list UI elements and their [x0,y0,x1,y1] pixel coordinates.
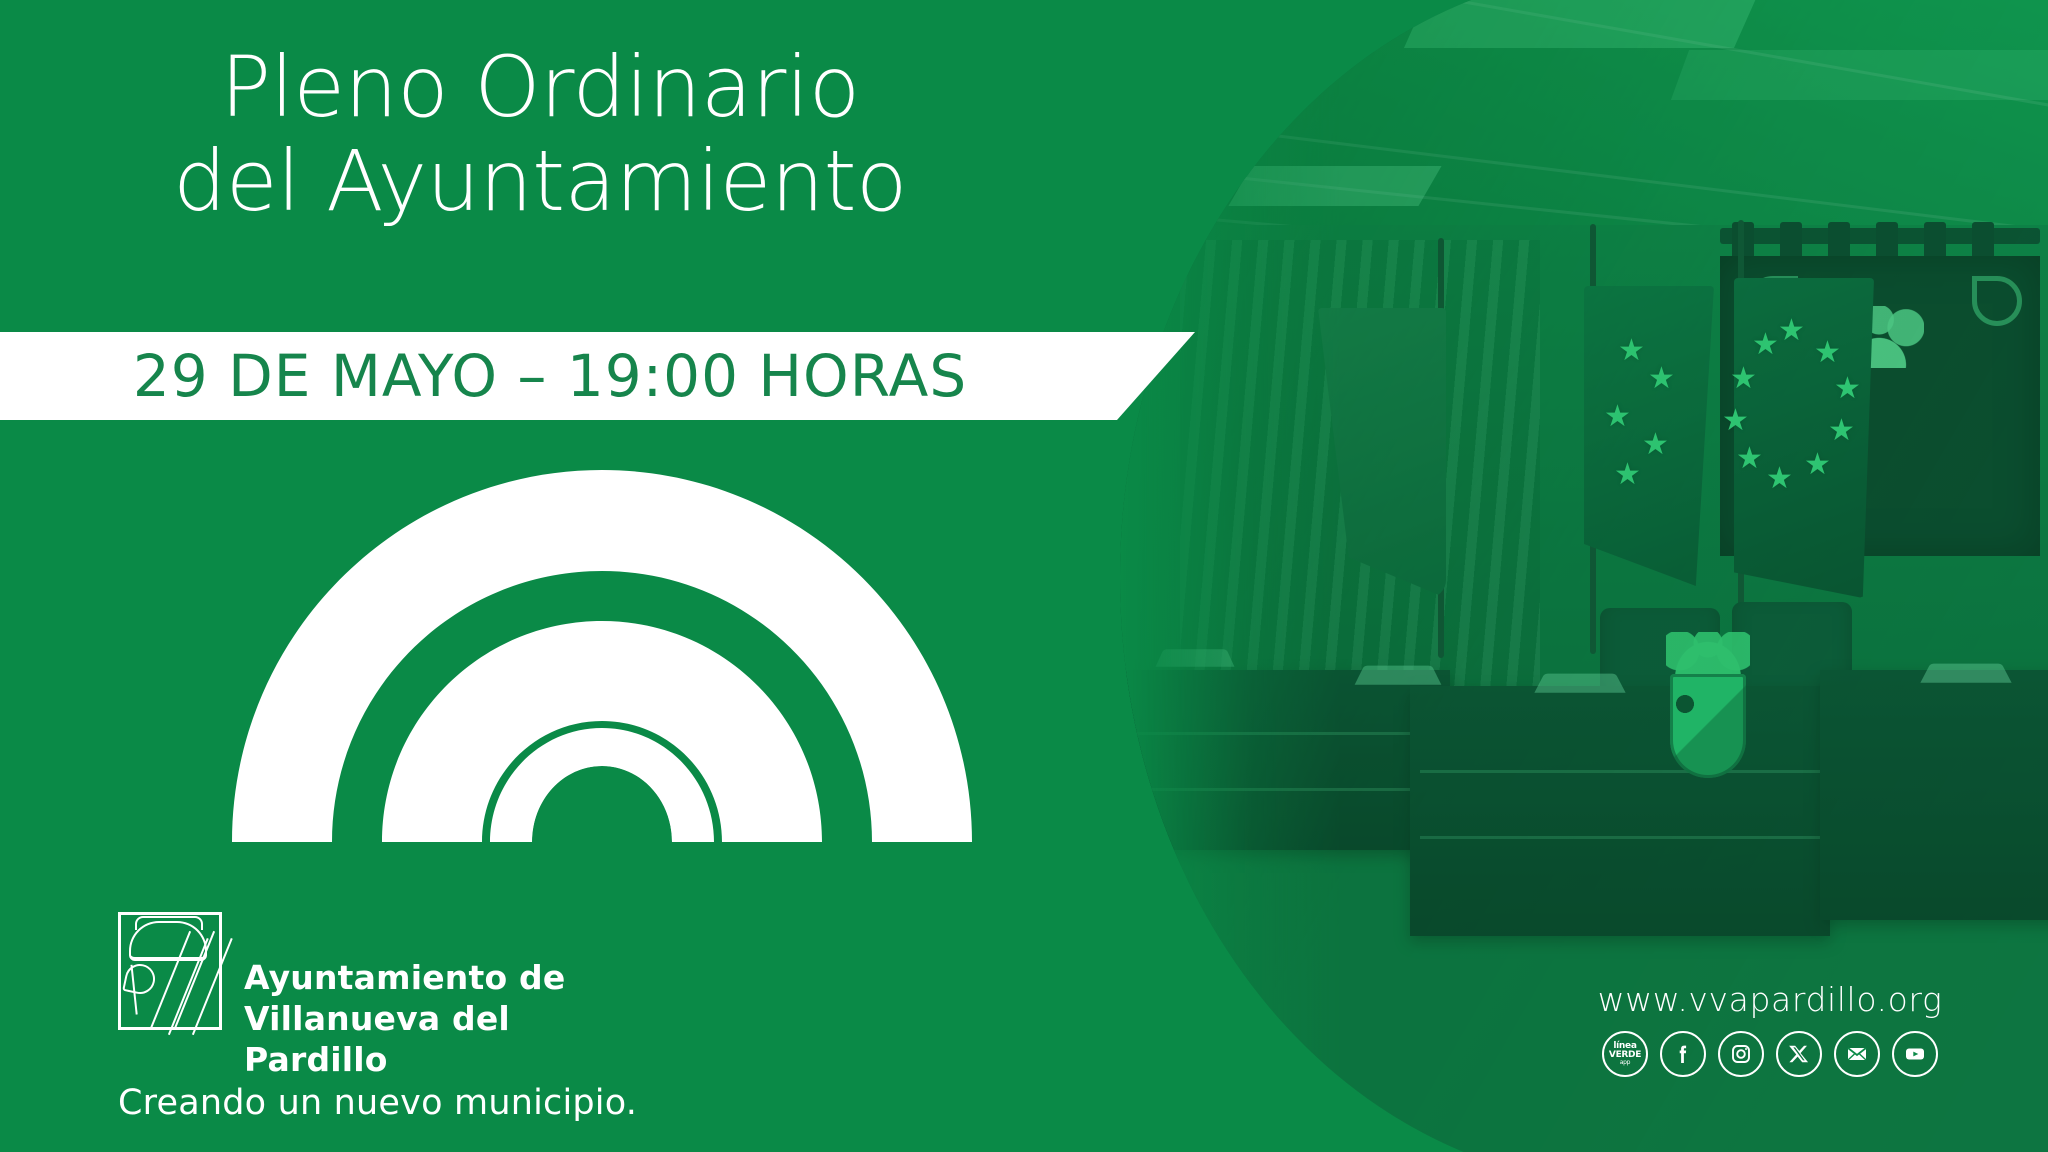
municipality-logo: Ayuntamiento de Villanueva del Pardillo … [118,912,638,1123]
municipality-name-line1: Ayuntamiento de [244,912,638,999]
facebook-icon[interactable] [1660,1031,1706,1077]
date-banner-text: 29 DE MAYO – 19:00 HORAS [0,332,1100,420]
municipality-tagline: Creando un nuevo municipio. [118,1083,638,1123]
photo-left-fade [1120,0,1340,1152]
municipal-shield-icon [118,912,222,1030]
page-title: Pleno Ordinario del Ayuntamiento [0,40,1080,228]
poster: ★ ★ ★ ★ ★ ★ ★ ★ ★ ★ ★ ★ ★ ★ ★ [0,0,2048,1152]
youtube-icon[interactable] [1892,1031,1938,1077]
website-url[interactable]: www.vvapardillo.org [1560,980,1980,1019]
linea-verde-icon[interactable]: líneaVERDEapp [1602,1031,1648,1077]
x-twitter-icon[interactable] [1776,1031,1822,1077]
email-icon[interactable] [1834,1031,1880,1077]
municipality-name-line2: Villanueva del Pardillo [244,999,638,1081]
instagram-icon[interactable] [1718,1031,1764,1077]
arch-rainbow-logo [232,470,972,842]
footer: www.vvapardillo.org líneaVERDEapp [1560,980,1980,1077]
social-links: líneaVERDEapp [1560,1031,1980,1077]
